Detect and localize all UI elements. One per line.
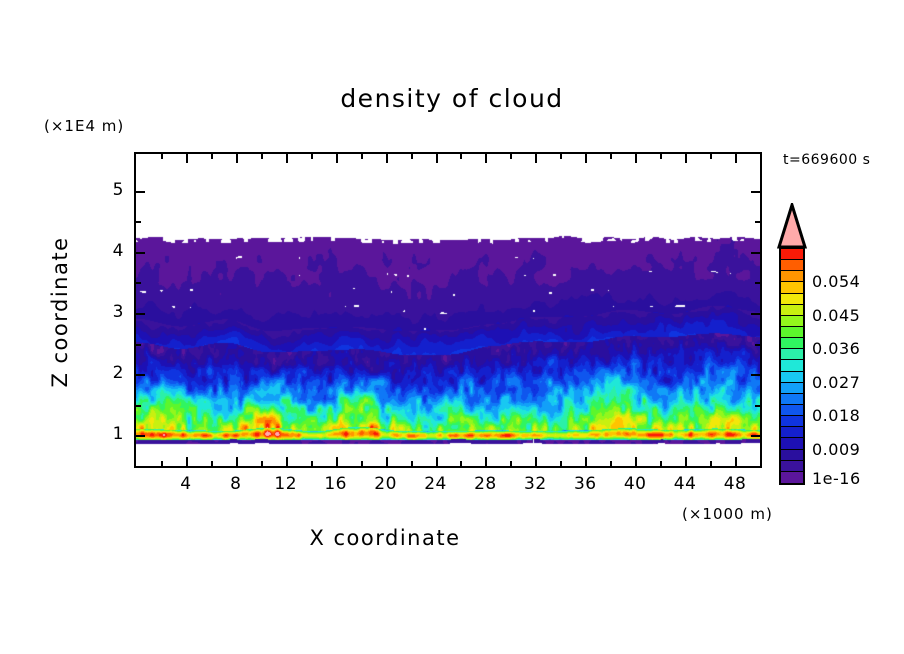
colorbar-band <box>781 305 803 316</box>
x-tick-top-major <box>535 154 537 163</box>
x-tick-label: 28 <box>465 474 505 494</box>
x-tick-major <box>585 457 587 466</box>
x-tick-minor <box>411 461 413 466</box>
colorbar-band <box>781 394 803 405</box>
colorbar-band <box>781 282 803 293</box>
y-tick-right-major <box>751 313 760 315</box>
x-tick-label: 44 <box>665 474 705 494</box>
y-tick-major <box>136 435 145 437</box>
x-tick-label: 48 <box>715 474 755 494</box>
x-tick-label: 12 <box>266 474 306 494</box>
x-tick-top-minor <box>161 154 163 159</box>
density-field-heatmap <box>136 154 760 466</box>
colorbar-band <box>781 349 803 360</box>
x-tick-minor <box>610 461 612 466</box>
y-tick-label: 4 <box>94 241 124 261</box>
colorbar-band <box>781 260 803 271</box>
x-tick-minor <box>510 461 512 466</box>
x-tick-minor <box>560 461 562 466</box>
x-tick-top-minor <box>361 154 363 159</box>
y-tick-major <box>136 191 145 193</box>
y-tick-right-major <box>751 191 760 193</box>
x-tick-major <box>535 457 537 466</box>
x-tick-label: 36 <box>565 474 605 494</box>
y-tick-right-minor <box>755 405 760 407</box>
x-tick-major <box>635 457 637 466</box>
x-tick-label: 32 <box>515 474 555 494</box>
x-tick-label: 8 <box>216 474 256 494</box>
x-tick-top-major <box>485 154 487 163</box>
y-tick-major <box>136 374 145 376</box>
x-tick-top-minor <box>411 154 413 159</box>
colorbar-tick-label: 0.054 <box>812 272 860 291</box>
y-axis-title: Z coordinate <box>48 212 72 412</box>
colorbar-tick-label: 0.036 <box>812 339 860 358</box>
colorbar-band <box>781 405 803 416</box>
x-tick-top-major <box>685 154 687 163</box>
x-tick-minor <box>311 461 313 466</box>
colorbar-band <box>781 438 803 449</box>
colorbar-band <box>781 372 803 383</box>
colorbar-band <box>781 461 803 472</box>
colorbar-band <box>781 450 803 461</box>
y-tick-minor <box>136 221 141 223</box>
plot-area <box>134 152 762 468</box>
x-tick-major <box>436 457 438 466</box>
x-tick-top-major <box>635 154 637 163</box>
x-tick-major <box>386 457 388 466</box>
x-tick-major <box>286 457 288 466</box>
x-tick-top-minor <box>560 154 562 159</box>
x-tick-minor <box>261 461 263 466</box>
page-title: density of cloud <box>0 84 904 113</box>
x-tick-top-major <box>585 154 587 163</box>
x-tick-top-minor <box>460 154 462 159</box>
x-tick-top-minor <box>211 154 213 159</box>
x-tick-major <box>336 457 338 466</box>
colorbar <box>779 247 805 485</box>
x-tick-top-major <box>436 154 438 163</box>
x-tick-major <box>186 457 188 466</box>
x-tick-minor <box>361 461 363 466</box>
figure-canvas: density of cloud (×1E4 m) t=669600 s 481… <box>0 0 904 654</box>
y-tick-label: 1 <box>94 424 124 444</box>
x-tick-top-major <box>336 154 338 163</box>
colorbar-band <box>781 249 803 260</box>
y-tick-right-major <box>751 252 760 254</box>
colorbar-band <box>781 316 803 327</box>
x-tick-label: 20 <box>366 474 406 494</box>
colorbar-band <box>781 327 803 338</box>
y-tick-label: 2 <box>94 363 124 383</box>
x-tick-label: 4 <box>166 474 206 494</box>
x-tick-top-minor <box>261 154 263 159</box>
x-tick-top-major <box>186 154 188 163</box>
x-tick-top-major <box>236 154 238 163</box>
y-axis-unit-label: (×1E4 m) <box>44 117 124 135</box>
x-tick-major <box>236 457 238 466</box>
colorbar-band <box>781 294 803 305</box>
x-tick-major <box>685 457 687 466</box>
y-tick-minor <box>136 405 141 407</box>
y-tick-minor <box>136 282 141 284</box>
timestamp-annotation: t=669600 s <box>783 152 870 168</box>
colorbar-min-label: 1e-16 <box>812 469 861 488</box>
colorbar-tick-label: 0.009 <box>812 440 860 459</box>
colorbar-band <box>781 427 803 438</box>
x-tick-top-minor <box>660 154 662 159</box>
y-tick-right-minor <box>755 282 760 284</box>
colorbar-band <box>781 360 803 371</box>
x-tick-minor <box>211 461 213 466</box>
colorbar-tick-label: 0.027 <box>812 373 860 392</box>
x-tick-top-major <box>286 154 288 163</box>
colorbar-tick-label: 0.045 <box>812 306 860 325</box>
x-tick-label: 24 <box>416 474 456 494</box>
x-axis-unit-label: (×1000 m) <box>682 505 773 523</box>
x-tick-top-major <box>735 154 737 163</box>
colorbar-band <box>781 383 803 394</box>
y-tick-label: 5 <box>94 180 124 200</box>
x-tick-label: 16 <box>316 474 356 494</box>
y-tick-right-major <box>751 374 760 376</box>
colorbar-tick-label: 0.018 <box>812 406 860 425</box>
x-tick-top-minor <box>710 154 712 159</box>
y-tick-right-major <box>751 435 760 437</box>
x-tick-minor <box>710 461 712 466</box>
y-tick-major <box>136 252 145 254</box>
x-tick-minor <box>460 461 462 466</box>
x-tick-minor <box>660 461 662 466</box>
y-tick-label: 3 <box>94 302 124 322</box>
x-tick-label: 40 <box>615 474 655 494</box>
x-tick-top-minor <box>610 154 612 159</box>
colorbar-band <box>781 338 803 349</box>
x-tick-top-major <box>386 154 388 163</box>
colorbar-over-range-cap <box>777 203 807 249</box>
y-tick-minor <box>136 344 141 346</box>
x-tick-top-minor <box>311 154 313 159</box>
x-tick-major <box>485 457 487 466</box>
colorbar-band <box>781 271 803 282</box>
y-tick-right-minor <box>755 344 760 346</box>
y-tick-major <box>136 313 145 315</box>
x-tick-top-minor <box>510 154 512 159</box>
x-tick-major <box>735 457 737 466</box>
x-tick-minor <box>161 461 163 466</box>
x-axis-title: X coordinate <box>0 526 770 550</box>
y-tick-right-minor <box>755 221 760 223</box>
colorbar-band <box>781 416 803 427</box>
colorbar-band <box>781 472 803 483</box>
